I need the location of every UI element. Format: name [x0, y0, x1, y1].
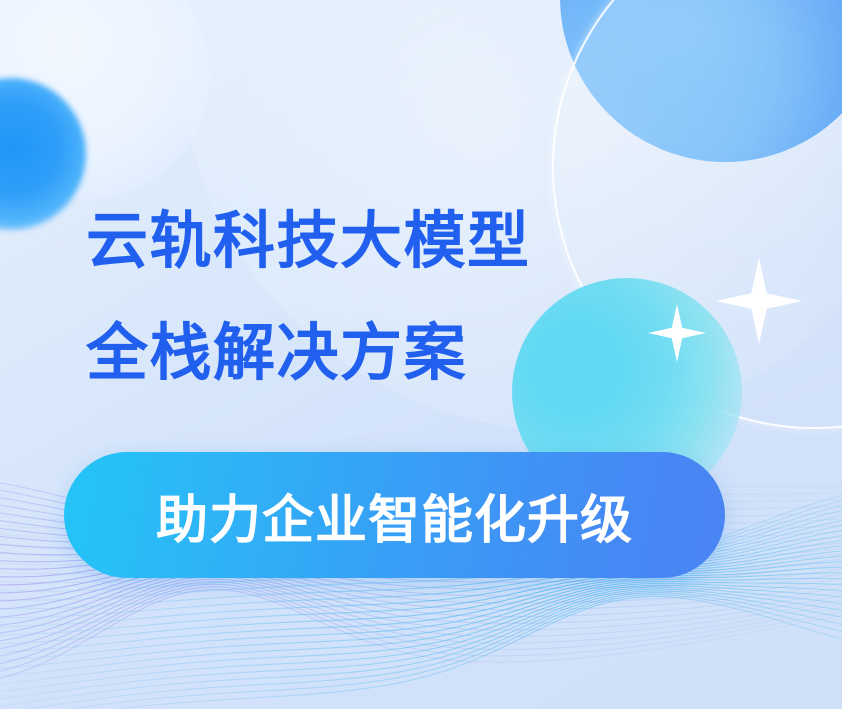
- headline-line-2: 全栈解决方案: [86, 298, 726, 410]
- headline-line-1: 云轨科技大模型: [86, 186, 726, 298]
- poster-content: 云轨科技大模型 全栈解决方案 助力企业智能化升级: [0, 0, 842, 709]
- promo-poster: 云轨科技大模型 全栈解决方案 助力企业智能化升级: [0, 0, 842, 709]
- page-title: 云轨科技大模型 全栈解决方案: [86, 186, 726, 410]
- cta-banner[interactable]: 助力企业智能化升级: [64, 452, 725, 578]
- cta-banner-label: 助力企业智能化升级: [156, 478, 633, 553]
